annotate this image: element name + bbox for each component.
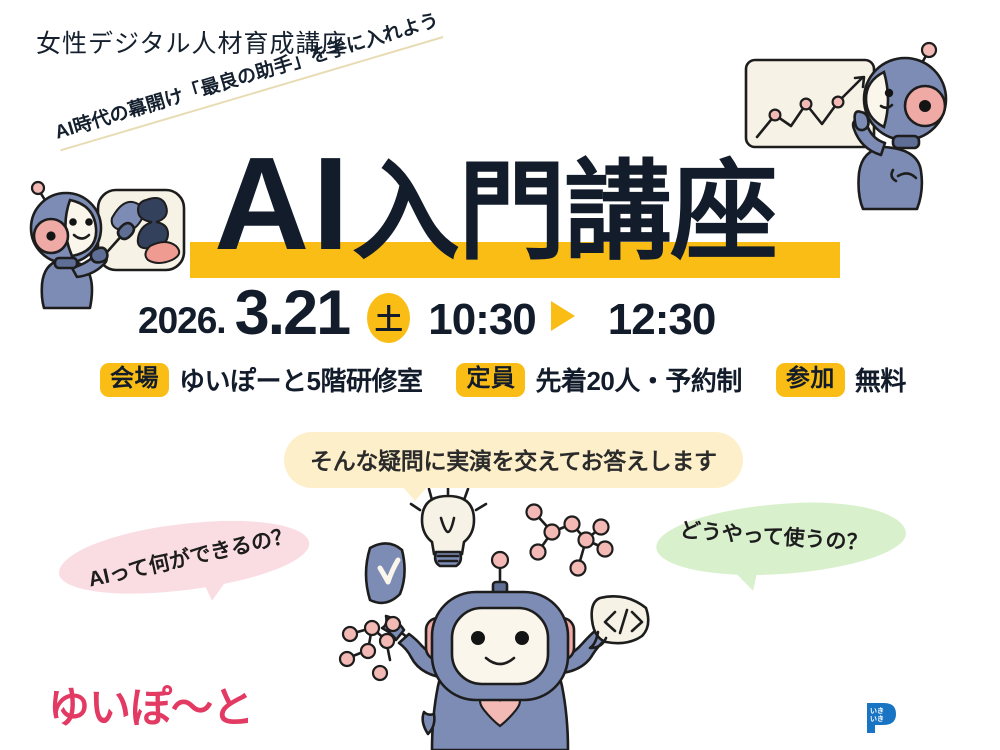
code-bubble-icon	[590, 596, 648, 648]
info-value-fee: 無料	[855, 361, 906, 398]
title-jp: 入門講座	[352, 151, 776, 272]
question-bubble-left: AIって何ができるの？	[55, 510, 313, 604]
page-title: AI入門講座	[214, 128, 776, 280]
info-label-capacity: 定員	[456, 363, 525, 397]
svg-text:いき: いき	[870, 706, 884, 715]
info-group-fee: 参加 無料	[776, 361, 906, 398]
question-right-text: どうやって使うの？	[679, 514, 869, 557]
day-of-week-badge: 土	[367, 293, 410, 343]
event-year: 2026.	[138, 302, 226, 345]
end-time: 12:30	[608, 298, 716, 345]
event-datetime: 2026. 3.21 土 10:30 12:30	[138, 282, 715, 345]
event-day: 3.21	[235, 282, 350, 345]
time-arrow-icon	[551, 301, 575, 331]
venue-brand-logo: ゆいぽ〜と	[48, 674, 253, 735]
robot-mascot-illustration	[382, 552, 623, 750]
svg-text:いき: いき	[870, 714, 884, 723]
network-nodes-icon-left	[340, 617, 400, 680]
question-left-text: AIって何ができるの？	[85, 519, 295, 593]
shield-check-icon	[366, 543, 405, 602]
city-mark-logo: いき いき	[864, 701, 898, 735]
info-label-fee: 参加	[776, 363, 845, 397]
info-group-venue: 会場 ゆいぽーと5階研修室	[100, 361, 422, 398]
poster-canvas: .rb { fill:#7d8cb5; stroke:#1d1d1d; stro…	[0, 0, 1000, 750]
start-time: 10:30	[428, 298, 536, 345]
info-value-venue: ゆいぽーと5階研修室	[179, 361, 422, 398]
title-text: AI入門講座	[214, 128, 776, 288]
info-value-capacity: 先着20人・予約制	[535, 361, 741, 398]
title-en: AI	[214, 130, 352, 277]
answer-bubble: そんな疑問に実演を交えてお答えします	[284, 432, 743, 488]
question-bubble-right: どうやって使うの？	[654, 495, 908, 582]
small-checkmark-decor	[423, 712, 435, 734]
network-nodes-icon-right	[527, 505, 613, 576]
info-group-capacity: 定員 先着20人・予約制	[456, 361, 741, 398]
event-info-row: 会場 ゆいぽーと5階研修室 定員 先着20人・予約制 参加 無料	[100, 361, 906, 398]
info-label-venue: 会場	[100, 363, 169, 397]
